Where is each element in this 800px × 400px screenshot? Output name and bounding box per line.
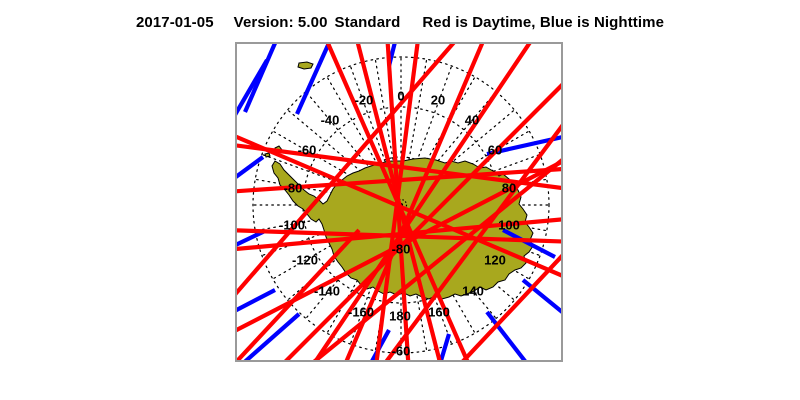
title-version: Version: 5.00 [234, 14, 328, 31]
track-23 [523, 280, 561, 316]
title-legend: Red is Daytime, Blue is Nighttime [422, 14, 664, 31]
track-17 [237, 157, 263, 182]
figure-title: 2017-01-05Version: 5.00StandardRed is Da… [0, 14, 800, 31]
island-northwest [298, 62, 313, 69]
polar-map [237, 44, 561, 360]
track-24 [487, 312, 535, 360]
map-plot-area[interactable]: 0 20 40 60 80 100 120 140 160 180 -160 -… [235, 42, 563, 362]
track-15 [245, 44, 279, 112]
daytime-tracks [237, 44, 561, 360]
figure-canvas: 2017-01-05Version: 5.00StandardRed is Da… [0, 0, 800, 400]
title-date: 2017-01-05 [136, 14, 214, 31]
island-small-west [265, 153, 270, 157]
title-mode: Standard [335, 14, 401, 31]
